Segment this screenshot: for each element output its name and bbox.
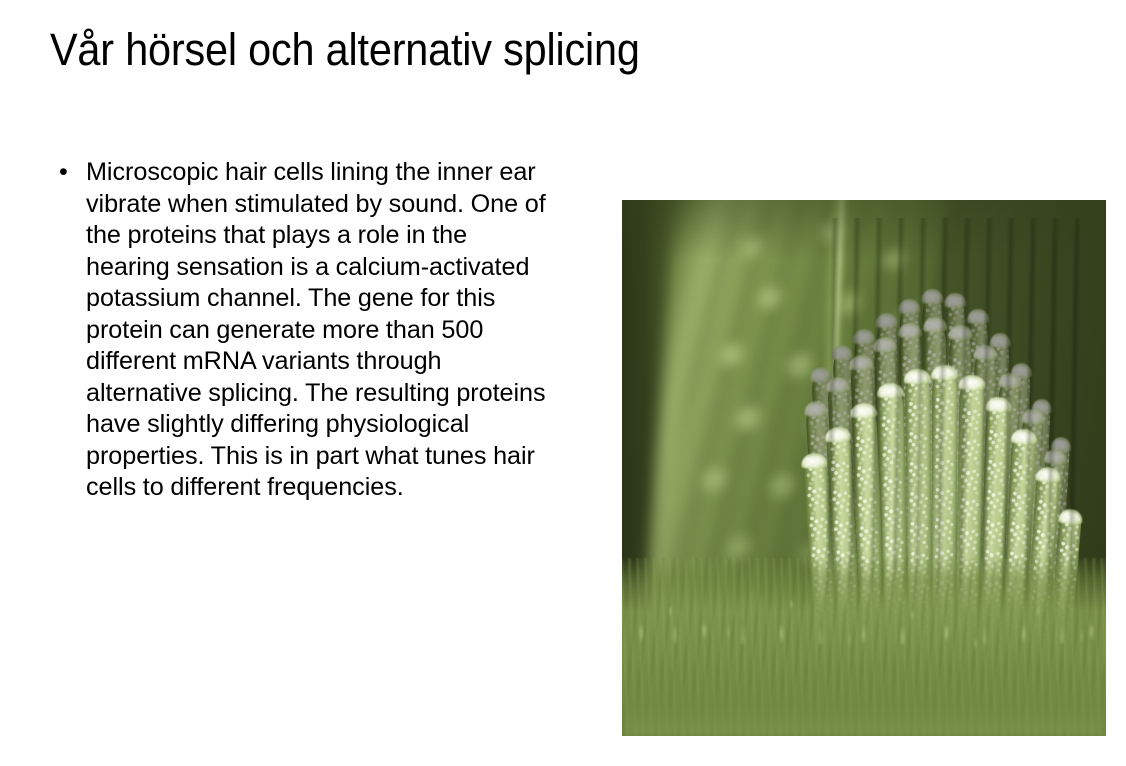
list-item: • Microscopic hair cells lining the inne…	[56, 157, 556, 504]
page-title: Vår hörsel och alternativ splicing	[50, 22, 988, 78]
presentation-slide: Vår hörsel och alternativ splicing • Mic…	[0, 0, 1126, 766]
foreground-depth-blur	[622, 668, 1106, 736]
body-text-block: • Microscopic hair cells lining the inne…	[56, 157, 556, 504]
bullet-marker-icon: •	[56, 157, 86, 189]
bullet-text: Microscopic hair cells lining the inner …	[86, 157, 556, 504]
hair-cell-stereocilia-micrograph	[622, 200, 1106, 736]
